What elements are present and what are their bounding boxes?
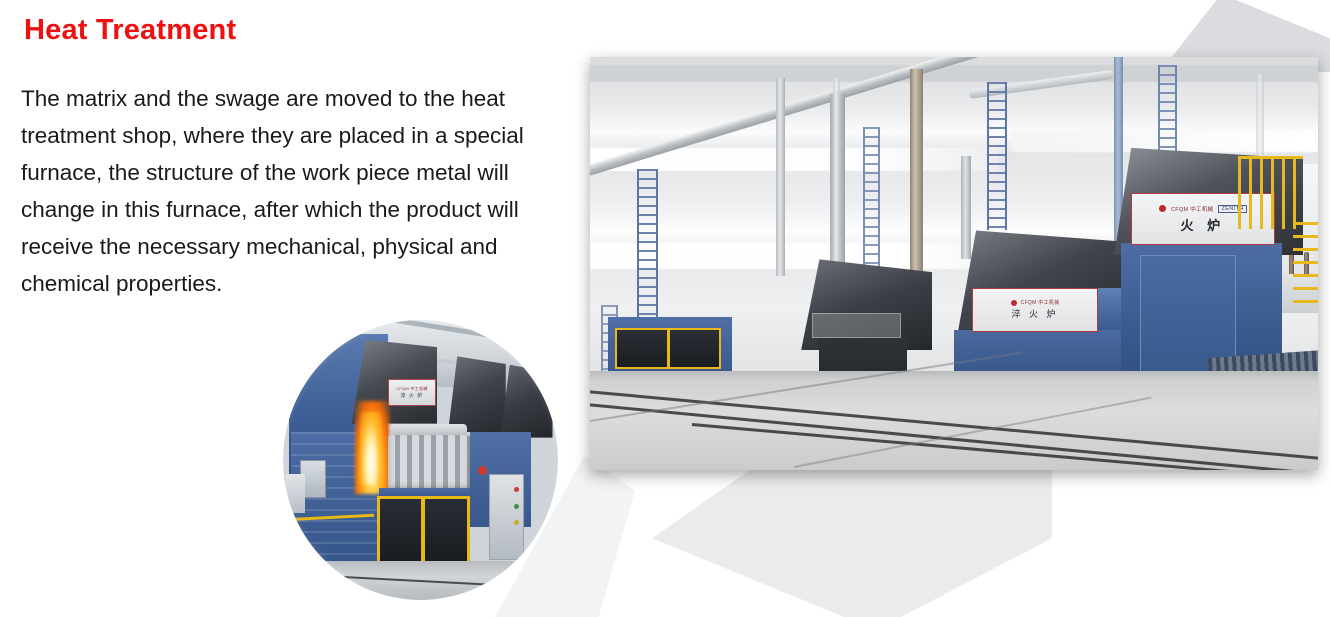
inset-control-cabinet xyxy=(489,474,524,560)
section-description: The matrix and the swage are moved to th… xyxy=(21,80,561,302)
inset-control-panel-2 xyxy=(286,474,305,513)
brand-text: CFQM 中工机械 xyxy=(1171,205,1213,213)
panel xyxy=(380,499,422,566)
furnace-flame-inset-photo: CFQM 中工机械 淬 火 炉 xyxy=(283,320,558,600)
furnace-right-sign-label: 火 炉 xyxy=(1181,215,1226,234)
emergency-stop-icon xyxy=(478,466,487,475)
inset-furnace-sign: CFQM 中工机械 淬 火 炉 xyxy=(388,379,437,406)
panel xyxy=(425,499,467,566)
left-machine-yellow-frame xyxy=(615,328,721,369)
yellow-guardrail-upper xyxy=(1238,156,1304,229)
brand-mark-icon xyxy=(1011,300,1017,306)
exhaust-stack-4 xyxy=(961,156,971,259)
access-ladder-4 xyxy=(1158,65,1177,156)
decor-bottom-chevron xyxy=(652,460,1052,617)
indicator-light-2 xyxy=(514,504,519,509)
inset-furnace-hood-2 xyxy=(448,356,506,432)
brand-text: CFQM 中工机械 xyxy=(1021,299,1060,306)
access-ladder-3 xyxy=(987,82,1007,231)
access-ladder-2 xyxy=(863,127,880,267)
yellow-guardrail-lower xyxy=(1293,222,1318,313)
furnace-middle-sign-brand: CFQM 中工机械 xyxy=(1011,299,1060,306)
workshop-photo: CFQM 中工机械 淬 火 炉 CFQM 中工机械 ZENITH 火 炉 xyxy=(590,57,1318,470)
brand-mark-icon xyxy=(1159,205,1166,212)
panel xyxy=(617,330,666,367)
furnace-left-nameplate xyxy=(812,313,901,338)
furnace-right-sign-brand: CFQM 中工机械 ZENITH xyxy=(1159,205,1247,213)
panel xyxy=(670,330,719,367)
workshop-floor xyxy=(590,371,1318,470)
furnace-middle-sign-label: 淬 火 炉 xyxy=(1012,307,1059,320)
indicator-light-1 xyxy=(514,487,519,492)
roof-beam xyxy=(590,65,1318,82)
furnace-middle-sign: CFQM 中工机械 淬 火 炉 xyxy=(972,288,1098,331)
exhaust-stack-1 xyxy=(776,78,785,276)
indicator-light-3 xyxy=(514,520,519,525)
heat-treatment-slide: Heat Treatment The matrix and the swage … xyxy=(0,0,1330,617)
page-title: Heat Treatment xyxy=(24,14,236,47)
inset-yellow-frame xyxy=(377,496,471,569)
inset-workpiece xyxy=(388,435,471,491)
inset-sign-label: 淬 火 炉 xyxy=(400,392,423,399)
furnace-flame-core xyxy=(360,412,382,485)
exhaust-stack-3 xyxy=(910,69,923,292)
